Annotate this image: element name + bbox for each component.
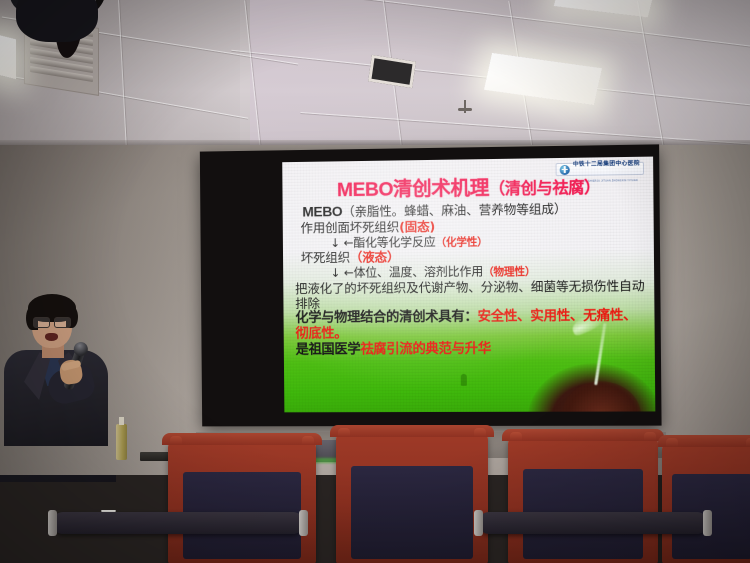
chair-metal-bracket bbox=[703, 510, 712, 536]
seat-crown bbox=[330, 425, 494, 437]
necrotic-solid-text: 作用创面坏死组织 bbox=[300, 220, 399, 236]
hospital-logo: 中铁十二局集团中心医院 ZHONGTIE SHIERJU JITUAN ZHON… bbox=[556, 162, 644, 176]
hospital-name-cn: 中铁十二局集团中心医院 bbox=[573, 160, 640, 167]
seat-crown bbox=[658, 435, 750, 447]
sprinkler-head-icon bbox=[464, 100, 466, 113]
slide-title-brand: MEBO bbox=[337, 178, 393, 201]
discharge-text: 把液化了的坏死组织及代谢产物、分泌物、细菌等无损伤性自动排除 bbox=[295, 278, 644, 311]
hospital-cross-icon bbox=[560, 164, 570, 174]
projected-slide: 中铁十二局集团中心医院 ZHONGTIE SHIERJU JITUAN ZHON… bbox=[282, 157, 655, 413]
chair-metal-bracket bbox=[474, 510, 483, 536]
glasses-icon bbox=[32, 317, 72, 326]
suspended-ceiling bbox=[0, 0, 750, 152]
chair-metal-bracket bbox=[48, 510, 57, 536]
slide-title: MEBO清创术机理（清创与祛腐） bbox=[294, 176, 644, 201]
physical-factors-label: ↓ ←体位、温度、溶剂比作用 bbox=[330, 264, 483, 279]
chair-metal-bracket bbox=[299, 510, 308, 536]
line-discharge: 把液化了的坏死组织及代谢产物、分泌物、细菌等无损伤性自动排除 bbox=[295, 278, 645, 311]
mebo-definition: （亲脂性。蜂蜡、麻油、营养物等组成） bbox=[342, 202, 566, 220]
properties-intro: 化学与物理结合的清创术具有： bbox=[295, 310, 477, 326]
water-bottle bbox=[116, 424, 127, 460]
chemical-property-label: （化学性） bbox=[435, 236, 487, 249]
mebo-keyword: MEBO bbox=[294, 204, 342, 221]
auditorium-seat bbox=[168, 440, 316, 563]
slide-body: MEBO（亲脂性。蜂蜡、麻油、营养物等组成） 作用创面坏死组织(固态) ↓ ←酯… bbox=[294, 200, 645, 360]
seat-crown bbox=[502, 429, 664, 441]
chair-back-rail bbox=[478, 512, 708, 534]
slide-title-paren: （清创与祛腐） bbox=[489, 178, 600, 199]
necrotic-liquid-state: （液态） bbox=[350, 250, 400, 265]
chair-back-rail bbox=[52, 512, 304, 534]
slide-title-main: 清创术机理 bbox=[393, 176, 489, 200]
conclusion-highlight: 祛腐引流的典范与升华 bbox=[360, 342, 491, 358]
necrotic-liquid-text: 坏死组织 bbox=[301, 250, 350, 265]
seat-crown bbox=[162, 433, 322, 445]
projection-screen-frame: 中铁十二局集团中心医院 ZHONGTIE SHIERJU JITUAN ZHON… bbox=[200, 144, 662, 426]
line-properties: 化学与物理结合的清创术具有：安全性、实用性、无痛性、彻底性。 bbox=[295, 308, 645, 343]
conclusion-intro: 是祖国医学 bbox=[296, 343, 361, 358]
auditorium-seat bbox=[662, 442, 750, 563]
physical-property-label: （物理性） bbox=[483, 266, 535, 279]
chemical-reaction-label: ↓ ←酯化等化学反应 bbox=[330, 235, 435, 250]
seat-cushion bbox=[351, 466, 473, 558]
audience-head bbox=[16, 0, 98, 42]
lecture-room-photo: 中铁十二局集团中心医院 ZHONGTIE SHIERJU JITUAN ZHON… bbox=[0, 0, 750, 563]
presenter-mouth bbox=[45, 333, 58, 341]
auditorium-seat bbox=[336, 432, 488, 563]
auditorium-seat bbox=[508, 436, 658, 563]
ceiling-light-panel bbox=[0, 33, 16, 79]
line-conclusion: 是祖国医学祛腐引流的典范与升华 bbox=[296, 341, 646, 359]
necrotic-solid-state: (固态) bbox=[399, 219, 435, 234]
presenter bbox=[2, 286, 110, 446]
